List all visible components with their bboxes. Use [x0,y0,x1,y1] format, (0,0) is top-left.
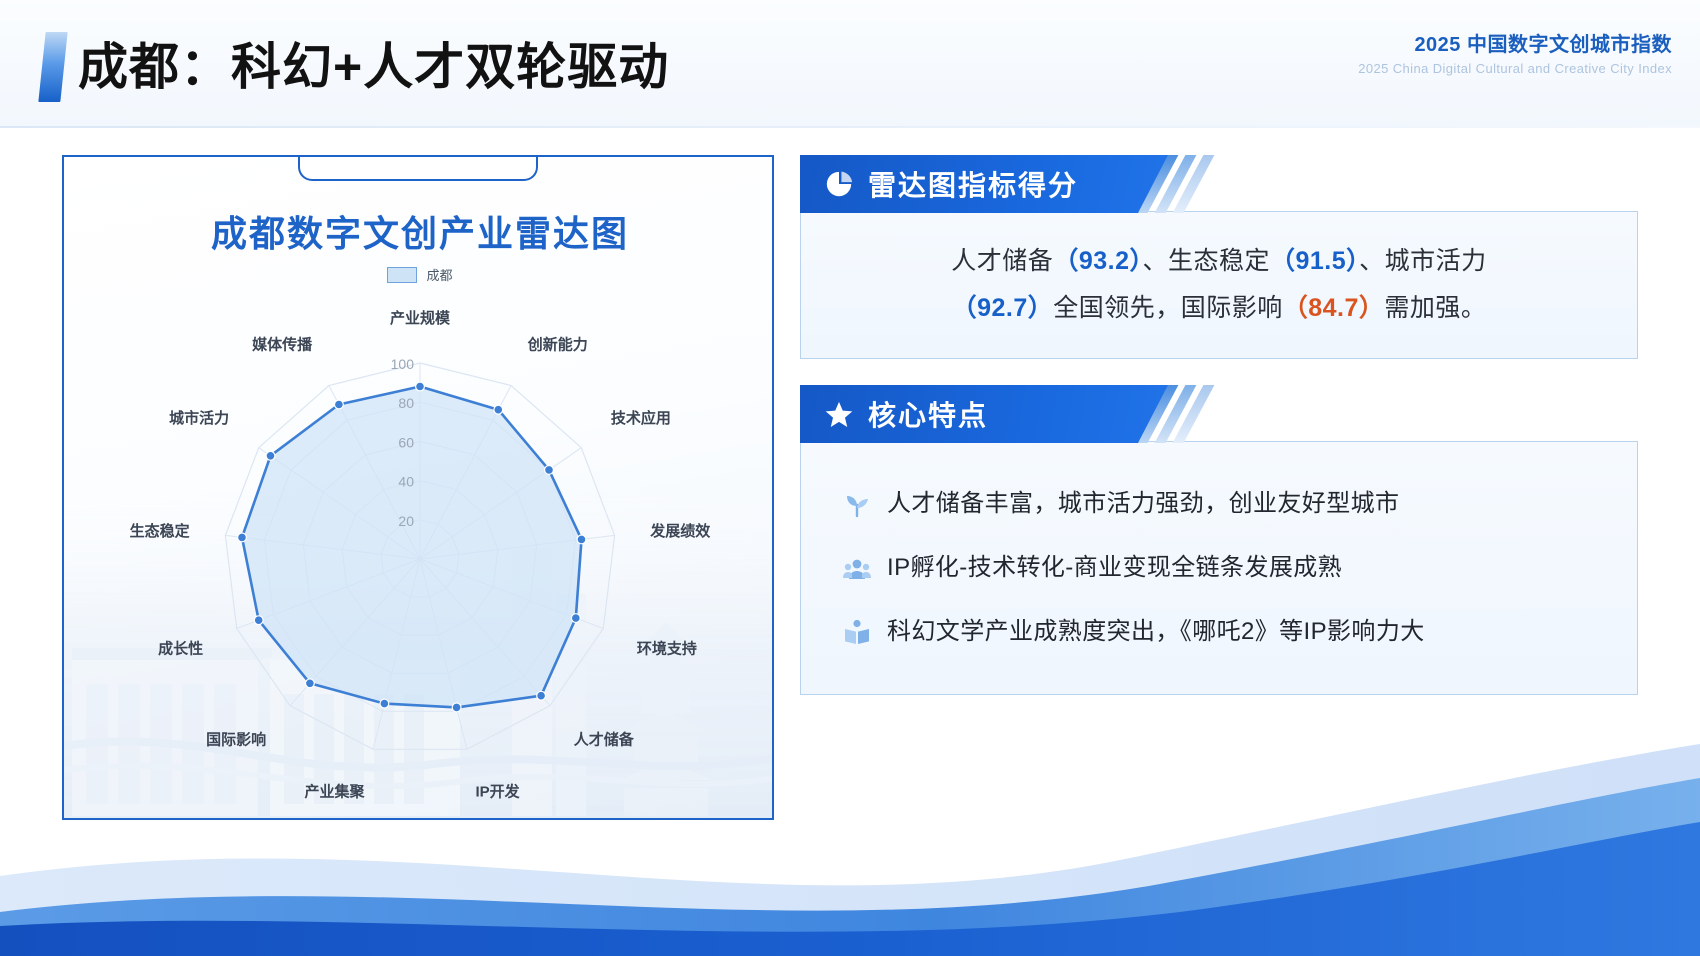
score-line-1: 人才储备（93.2）、生态稳定（91.5）、城市活力 [839,238,1599,285]
radar-tick-label: 80 [398,395,414,411]
brand-title-en: 2025 China Digital Cultural and Creative… [1358,59,1672,79]
feature-list-item-label: 人才储备丰富，城市活力强劲，创业友好型城市 [887,485,1399,523]
radar-tick-label: 40 [398,474,414,490]
radar-chart-panel: 成都数字文创产业雷达图 成都 20406080100产业规模创新能力技术应用发展… [62,155,774,820]
radar-tick-label: 60 [398,434,414,450]
chart-title: 成都数字文创产业雷达图 [64,205,774,257]
score-card-title: 雷达图指标得分 [868,164,1078,204]
feature-list-item: 科幻文学产业成熟度突出，《哪吒2》等IP影响力大 [839,600,1599,664]
people-icon [843,554,871,582]
sprout-icon [843,490,871,518]
feature-card-title: 核心特点 [868,394,988,434]
score-summary-text: 人才储备（93.2）、生态稳定（91.5）、城市活力 （92.7）全国领先，国际… [839,238,1599,332]
title-accent-bar [38,32,67,102]
feature-card-stripe-decoration [1152,385,1272,443]
score-card-header: 雷达图指标得分 [800,155,1168,213]
brand-block: 2025 中国数字文创城市指数 2025 China Digital Cultu… [1358,32,1672,79]
legend-label-chengdu: 成都 [426,265,452,284]
radar-axis-label: 创新能力 [527,336,588,354]
radar-data-point [380,699,389,708]
radar-axis-label: 环境支持 [637,639,697,657]
radar-data-point [335,400,344,409]
header-divider [0,126,1700,128]
radar-tick-label: 20 [398,513,414,529]
radar-data-point [494,405,503,414]
feature-list: 人才储备丰富，城市活力强劲，创业友好型城市IP孵化-技术转化-商业变现全链条发展… [839,472,1599,664]
bottom-wave-decoration [0,726,1700,956]
radar-data-point [571,614,580,623]
page-title: 成都：科幻+人才双轮驱动 [78,36,669,98]
radar-data-point [254,616,263,625]
page-header: 成都：科幻+人才双轮驱动 2025 中国数字文创城市指数 2025 China … [0,0,1700,128]
radar-data-point [266,451,275,460]
book-icon [843,618,871,646]
feature-card-header: 核心特点 [800,385,1168,443]
feature-card: 核心特点 人才储备丰富，城市活力强劲，创业友好型城市IP孵化-技术转化-商业变现… [800,385,1638,695]
radar-axis-label: 产业规模 [390,309,451,327]
feature-list-item-label: 科幻文学产业成熟度突出，《哪吒2》等IP影响力大 [887,613,1425,651]
legend-swatch-chengdu [387,267,417,283]
panel-top-notch [298,155,538,181]
radar-data-point [537,691,546,700]
radar-axis-label: 发展绩效 [649,522,711,540]
radar-data-point [416,382,425,391]
score-line-2: （92.7）全国领先，国际影响（84.7）需加强。 [839,285,1599,332]
radar-axis-label: 生态稳定 [130,522,190,540]
chart-legend: 成都 [64,265,774,284]
score-card-body: 人才储备（93.2）、生态稳定（91.5）、城市活力 （92.7）全国领先，国际… [800,211,1638,359]
radar-tick-label: 100 [391,356,415,372]
feature-list-item: IP孵化-技术转化-商业变现全链条发展成熟 [839,536,1599,600]
radar-data-point [577,535,586,544]
radar-axis-label: 技术应用 [611,409,671,427]
radar-data-point [238,533,247,542]
feature-card-body: 人才储备丰富，城市活力强劲，创业友好型城市IP孵化-技术转化-商业变现全链条发展… [800,441,1638,695]
feature-list-item-label: IP孵化-技术转化-商业变现全链条发展成熟 [887,549,1342,587]
feature-list-item: 人才储备丰富，城市活力强劲，创业友好型城市 [839,472,1599,536]
radar-axis-label: 城市活力 [169,409,229,427]
radar-data-point [452,703,461,712]
right-column: 雷达图指标得分 人才储备（93.2）、生态稳定（91.5）、城市活力 （92.7… [800,155,1638,721]
score-card: 雷达图指标得分 人才储备（93.2）、生态稳定（91.5）、城市活力 （92.7… [800,155,1638,359]
radar-axis-label: 成长性 [158,639,203,657]
radar-axis-label: 媒体传播 [252,336,313,354]
radar-data-point [545,466,554,475]
pie-chart-icon [824,169,854,199]
star-icon [824,399,854,429]
score-card-stripe-decoration [1152,155,1272,213]
brand-title-cn: 2025 中国数字文创城市指数 [1358,32,1672,58]
radar-data-point [306,679,315,688]
